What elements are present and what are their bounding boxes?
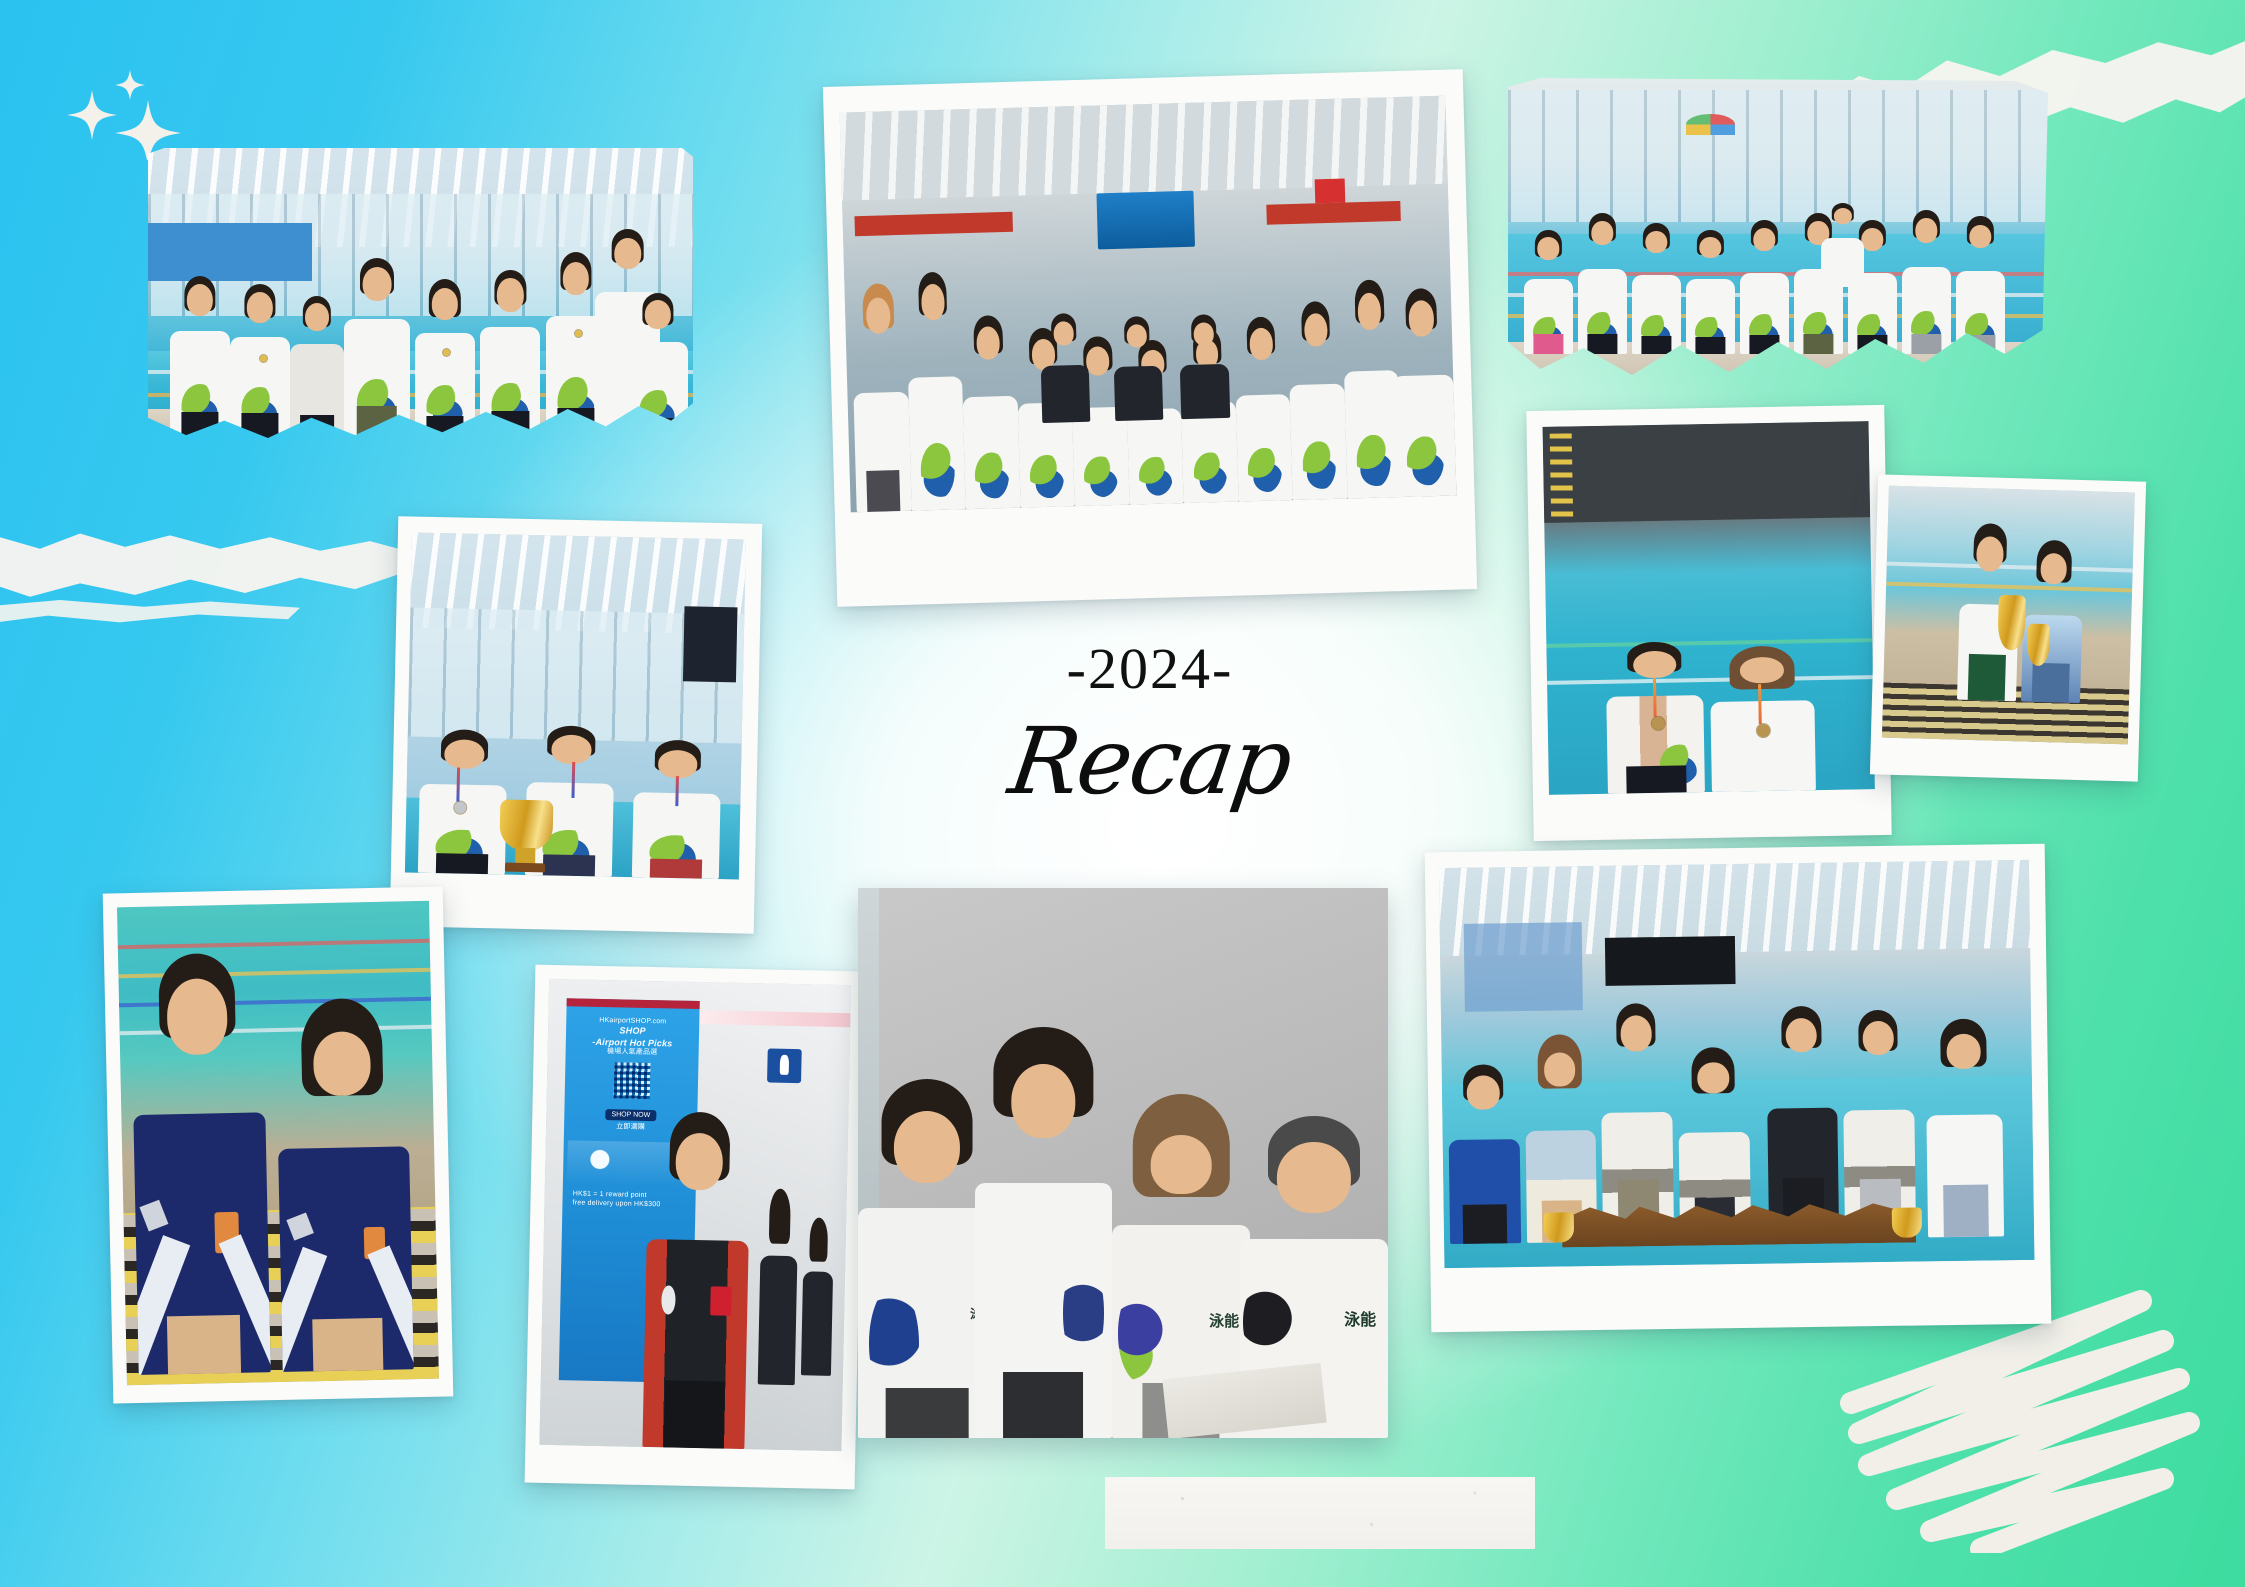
person (275, 997, 414, 1372)
person (1686, 230, 1735, 354)
person (632, 740, 722, 879)
person (628, 293, 688, 438)
club-logo-text: 泳能 (1209, 1310, 1239, 1331)
sparkle-icon-small (115, 70, 145, 100)
person (1956, 216, 2005, 354)
page-title-word: Recap (928, 714, 1372, 811)
trophy-icon (499, 800, 553, 852)
person (480, 270, 540, 438)
person (2021, 540, 2085, 703)
photo-large-group-polaroid[interactable] (823, 69, 1477, 607)
trophy-icon (1544, 1213, 1574, 1243)
photo-medal-pair[interactable] (1526, 405, 1891, 841)
person (1233, 317, 1293, 502)
person (1632, 223, 1681, 354)
person (1524, 230, 1573, 354)
person (1600, 1003, 1674, 1242)
photo-scene (840, 96, 1457, 513)
person (1709, 645, 1816, 792)
restroom-sign-icon (767, 1049, 802, 1084)
person (290, 296, 345, 438)
person-coach (1448, 1065, 1521, 1245)
photo-squad-with-shields[interactable] (1425, 844, 2052, 1333)
photo-scene (1508, 78, 2048, 378)
person (344, 258, 409, 438)
photo-airport-portrait[interactable]: HKairportSHOP.com SHOP -Airport Hot Pick… (525, 965, 866, 1490)
person (418, 729, 508, 874)
person (960, 314, 1020, 509)
photo-trophy-pair-small[interactable] (1870, 474, 2146, 781)
qr-code-icon (613, 1062, 650, 1099)
person (170, 276, 230, 438)
person (758, 1188, 798, 1384)
photo-scene (1882, 486, 2135, 745)
person (1842, 1009, 1916, 1238)
person (1925, 1018, 2005, 1237)
page-title-year: -2024- (935, 640, 1365, 698)
photo-scene: HKairportSHOP.com SHOP -Airport Hot Pick… (539, 979, 851, 1451)
photo-scene (148, 148, 693, 438)
person-coach (1039, 312, 1090, 422)
person (642, 1111, 752, 1449)
title-block: -2024- Recap (935, 640, 1365, 811)
trophy-icon (1892, 1208, 1922, 1238)
person (975, 1027, 1113, 1438)
person (415, 279, 475, 439)
photo-blue-tracksuit-pair[interactable] (103, 886, 454, 1403)
person (130, 952, 270, 1375)
person (801, 1217, 834, 1376)
person (1765, 1006, 1839, 1240)
collage-canvas: HKairportSHOP.com SHOP -Airport Hot Pick… (0, 0, 2245, 1587)
photo-scene (1439, 860, 2035, 1268)
photo-scene (1543, 421, 1875, 795)
person (230, 284, 290, 438)
person-coach (1821, 203, 1864, 287)
photo-team-medals-pool[interactable] (148, 148, 693, 438)
person (850, 283, 911, 513)
person (1390, 287, 1456, 497)
photo-scene (405, 533, 746, 880)
person (1740, 220, 1789, 354)
sparkle-icon-medium (67, 90, 117, 140)
person (1605, 641, 1705, 794)
photo-scene (117, 901, 439, 1385)
photo-coaches-reviewing[interactable]: 泳 泳能 (858, 888, 1388, 1438)
club-logo-text: 泳能 (1344, 1306, 1376, 1330)
person-coach (1112, 315, 1163, 420)
ad-line3: 機場人氣產品選 (570, 1047, 695, 1058)
photo-trophy-trio[interactable] (390, 516, 763, 934)
person (1902, 210, 1951, 354)
person (1578, 213, 1627, 354)
photo-poolside-team-green[interactable] (1508, 78, 2048, 378)
paper-strip-bottom (1105, 1477, 1535, 1549)
person (1287, 300, 1347, 500)
person-coach (1179, 313, 1230, 418)
sparkle-cluster (44, 48, 184, 160)
photo-scene: 泳 泳能 (858, 888, 1388, 1438)
person (905, 271, 966, 511)
ad-top-bar (567, 998, 700, 1009)
brush-stroke-left-secondary (0, 600, 300, 626)
